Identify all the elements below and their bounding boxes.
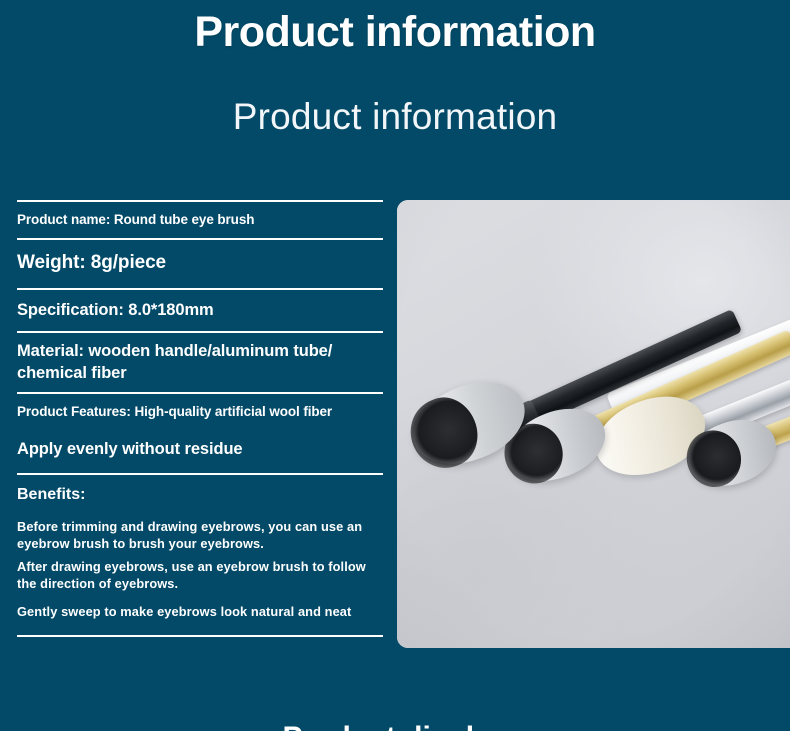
spec-row-weight: Weight: 8g/piece — [17, 240, 383, 288]
spec-row-specification: Specification: 8.0*180mm — [17, 290, 383, 331]
benefit-item: Before trimming and drawing eyebrows, yo… — [17, 510, 383, 552]
page-title: Product information — [0, 4, 790, 60]
spec-row-material: Material: wooden handle/aluminum tube/ c… — [17, 333, 383, 392]
spec-weight-text: Weight: 8g/piece — [17, 250, 383, 275]
benefit-item: Gently sweep to make eyebrows look natur… — [17, 592, 383, 621]
spec-material-text: Material: wooden handle/aluminum tube/ c… — [17, 340, 383, 384]
spec-specification-text: Specification: 8.0*180mm — [17, 299, 383, 321]
spec-product-name-text: Product name: Round tube eye brush — [17, 210, 383, 229]
bottom-section-heading-text: Product display — [0, 718, 790, 731]
spec-row-apply: Apply evenly without residue — [17, 429, 383, 473]
page-subtitle: Product information — [0, 92, 790, 142]
page-header: Product information Product information — [0, 0, 790, 142]
product-image — [397, 200, 790, 648]
spec-apply-text: Apply evenly without residue — [17, 438, 383, 460]
spec-row-features: Product Features: High-quality artificia… — [17, 394, 383, 429]
divider — [17, 635, 383, 637]
bottom-section-heading-clipped: Product display — [0, 718, 790, 731]
content-area: Product name: Round tube eye brush Weigh… — [0, 200, 790, 650]
benefits-heading: Benefits: — [17, 475, 383, 510]
specification-list: Product name: Round tube eye brush Weigh… — [0, 200, 383, 637]
product-photo-backdrop — [397, 200, 790, 648]
spec-row-product-name: Product name: Round tube eye brush — [17, 202, 383, 238]
benefit-item: After drawing eyebrows, use an eyebrow b… — [17, 552, 383, 592]
spec-features-text: Product Features: High-quality artificia… — [17, 402, 383, 421]
